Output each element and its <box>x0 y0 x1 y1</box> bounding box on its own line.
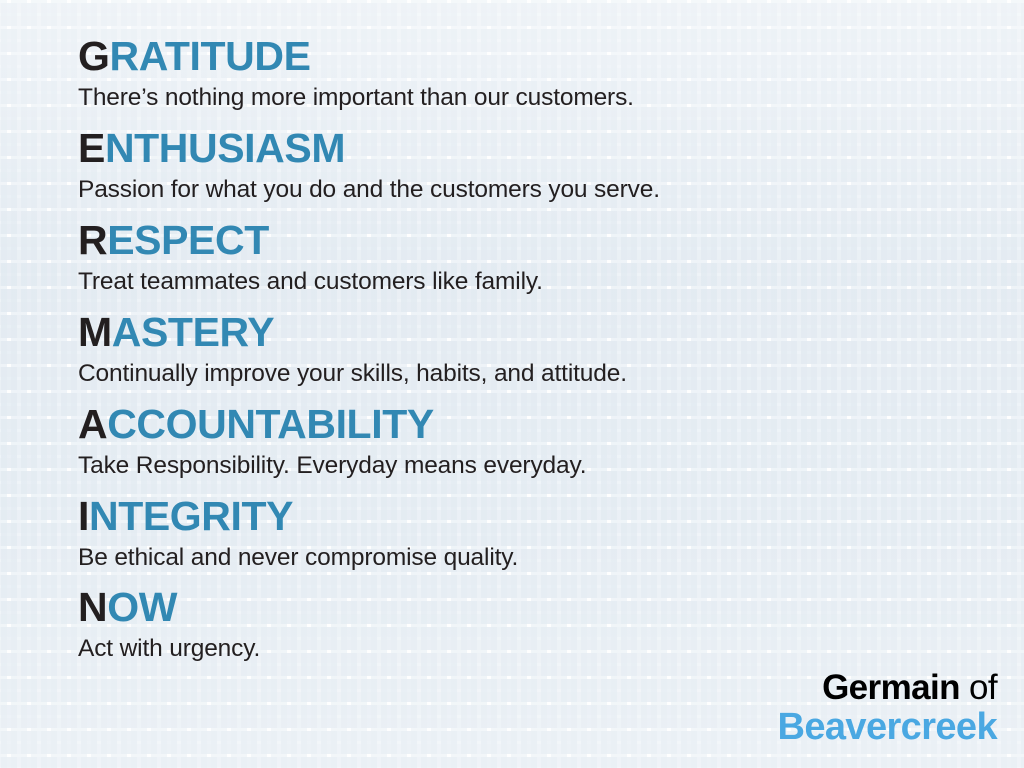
value-item-integrity: INTEGRITY Be ethical and never compromis… <box>78 496 1008 573</box>
value-initial-letter: R <box>78 217 107 263</box>
value-initial-letter: I <box>78 493 89 539</box>
value-remainder-letters: ESPECT <box>107 217 269 263</box>
logo-line-brand: Germain of <box>778 670 998 705</box>
value-initial-letter: A <box>78 401 107 447</box>
value-remainder-letters: OW <box>107 584 177 630</box>
logo-city-name: Beavercreek <box>778 708 998 746</box>
value-description-mastery: Continually improve your skills, habits,… <box>78 360 1008 389</box>
value-heading-respect: RESPECT <box>78 220 1008 261</box>
value-description-now: Act with urgency. <box>78 635 1008 664</box>
value-remainder-letters: RATITUDE <box>110 33 311 79</box>
value-remainder-letters: NTEGRITY <box>89 493 293 539</box>
value-heading-enthusiasm: ENTHUSIASM <box>78 128 1008 169</box>
value-description-integrity: Be ethical and never compromise quality. <box>78 544 1008 573</box>
value-heading-accountability: ACCOUNTABILITY <box>78 404 1008 445</box>
value-item-respect: RESPECT Treat teammates and customers li… <box>78 220 1008 297</box>
value-item-accountability: ACCOUNTABILITY Take Responsibility. Ever… <box>78 404 1008 481</box>
value-item-now: NOW Act with urgency. <box>78 587 1008 664</box>
value-description-respect: Treat teammates and customers like famil… <box>78 268 1008 297</box>
value-heading-integrity: INTEGRITY <box>78 496 1008 537</box>
value-item-gratitude: GRATITUDE There’s nothing more important… <box>78 36 1008 113</box>
value-heading-now: NOW <box>78 587 1008 628</box>
value-initial-letter: M <box>78 309 112 355</box>
value-description-enthusiasm: Passion for what you do and the customer… <box>78 176 1008 205</box>
dealership-logo: Germain of Beavercreek <box>778 670 998 746</box>
value-item-mastery: MASTERY Continually improve your skills,… <box>78 312 1008 389</box>
value-description-gratitude: There’s nothing more important than our … <box>78 84 1008 113</box>
logo-brand-name: Germain <box>822 668 960 707</box>
value-remainder-letters: NTHUSIASM <box>105 125 345 171</box>
value-initial-letter: E <box>78 125 105 171</box>
logo-connector-word: of <box>960 668 997 707</box>
value-remainder-letters: ASTERY <box>112 309 274 355</box>
value-remainder-letters: CCOUNTABILITY <box>107 401 434 447</box>
value-heading-gratitude: GRATITUDE <box>78 36 1008 77</box>
core-values-list: GRATITUDE There’s nothing more important… <box>78 36 1008 664</box>
value-initial-letter: G <box>78 33 110 79</box>
value-heading-mastery: MASTERY <box>78 312 1008 353</box>
value-description-accountability: Take Responsibility. Everyday means ever… <box>78 452 1008 481</box>
value-item-enthusiasm: ENTHUSIASM Passion for what you do and t… <box>78 128 1008 205</box>
value-initial-letter: N <box>78 584 107 630</box>
core-values-poster: GRATITUDE There’s nothing more important… <box>0 0 1024 768</box>
